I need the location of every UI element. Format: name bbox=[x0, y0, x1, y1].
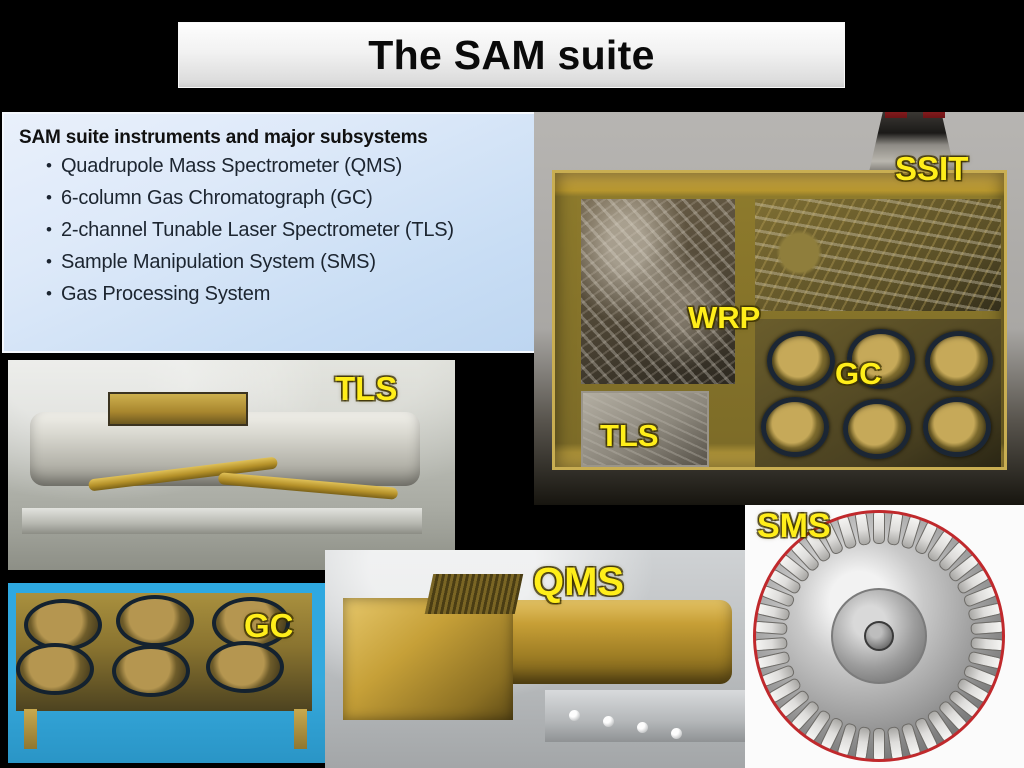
sms-sample-cup bbox=[854, 726, 871, 761]
instruments-info-panel: SAM suite instruments and major subsyste… bbox=[2, 112, 536, 353]
sms-sample-cup bbox=[970, 621, 1005, 636]
gc-coil bbox=[112, 645, 190, 697]
gc-coil bbox=[116, 595, 194, 647]
slide-canvas: The SAM suite SAM suite instruments and … bbox=[0, 0, 1024, 768]
sample-manipulation-system-photo: SMS bbox=[745, 505, 1024, 768]
gc-column-ring bbox=[843, 399, 911, 459]
sms-sample-cup bbox=[873, 510, 885, 544]
bullet-label: Quadrupole Mass Spectrometer (QMS) bbox=[61, 156, 402, 177]
sam-chassis bbox=[552, 170, 1007, 470]
qms-bolt bbox=[569, 710, 580, 721]
info-panel-heading: SAM suite instruments and major subsyste… bbox=[19, 127, 526, 149]
bullet-label: 2-channel Tunable Laser Spectrometer (TL… bbox=[61, 220, 454, 241]
slide-title-bar: The SAM suite bbox=[178, 22, 845, 88]
bullet-dot-icon: • bbox=[46, 189, 52, 206]
gc-column-ring bbox=[925, 331, 993, 391]
gc-leg bbox=[24, 709, 37, 749]
tunable-laser-spectrometer-photo: TLS bbox=[8, 360, 455, 570]
tls-mounting-plate bbox=[22, 508, 422, 534]
gc-column-ring bbox=[761, 397, 829, 457]
list-item: • 6-column Gas Chromatograph (GC) bbox=[46, 188, 526, 209]
ssit-tube-right bbox=[923, 112, 945, 118]
bullet-dot-icon: • bbox=[46, 157, 52, 174]
ssit-inlet-neck bbox=[869, 112, 955, 172]
sms-sample-cup bbox=[753, 621, 788, 636]
sms-carousel bbox=[753, 510, 1005, 762]
list-item: • Gas Processing System bbox=[46, 284, 526, 305]
gc-coil bbox=[206, 641, 284, 693]
qms-analyzer-tube bbox=[500, 600, 732, 684]
gc-leg bbox=[294, 709, 307, 749]
list-item: • Sample Manipulation System (SMS) bbox=[46, 252, 526, 273]
gc-coil bbox=[16, 643, 94, 695]
sam-bay-gc bbox=[755, 319, 1001, 467]
sam-bay-upper-right bbox=[755, 199, 1001, 311]
gc-column-deck bbox=[16, 593, 312, 711]
bullet-label: Sample Manipulation System (SMS) bbox=[61, 252, 376, 273]
qms-electronics-block bbox=[343, 598, 513, 720]
gc-column-ring bbox=[923, 397, 991, 457]
qms-bolt bbox=[637, 722, 648, 733]
bullet-label: 6-column Gas Chromatograph (GC) bbox=[61, 188, 373, 209]
list-item: • 2-channel Tunable Laser Spectrometer (… bbox=[46, 220, 526, 241]
list-item: • Quadrupole Mass Spectrometer (QMS) bbox=[46, 156, 526, 177]
page-title: The SAM suite bbox=[368, 35, 654, 76]
sam-bay-tls bbox=[581, 391, 709, 467]
sms-sample-cup bbox=[753, 637, 788, 652]
bullet-dot-icon: • bbox=[46, 285, 52, 302]
sms-sample-cup bbox=[873, 728, 885, 762]
tls-gold-module bbox=[108, 392, 248, 426]
qms-bolt bbox=[671, 728, 682, 739]
qms-bolt bbox=[603, 716, 614, 727]
ssit-tube-left bbox=[885, 112, 907, 118]
sam-bay-wiring bbox=[581, 199, 735, 384]
quadrupole-mass-spectrometer-photo: QMS bbox=[325, 550, 749, 768]
sms-hub-core bbox=[864, 621, 894, 651]
sam-suite-assembly-photo: SSIT WRP GC TLS bbox=[534, 112, 1024, 505]
sms-sample-cup bbox=[970, 637, 1005, 652]
bullet-label: Gas Processing System bbox=[61, 284, 270, 305]
label-qms: QMS bbox=[533, 562, 624, 602]
gc-column-ring bbox=[847, 329, 915, 389]
gas-chromatograph-photo: GC bbox=[8, 583, 326, 763]
bullet-dot-icon: • bbox=[46, 221, 52, 238]
label-tls: TLS bbox=[335, 372, 397, 405]
gc-column-ring bbox=[767, 331, 835, 391]
qms-radiator-grid bbox=[425, 574, 524, 614]
sms-hub bbox=[831, 588, 927, 684]
bullet-dot-icon: • bbox=[46, 253, 52, 270]
sms-sample-cup bbox=[854, 511, 871, 546]
